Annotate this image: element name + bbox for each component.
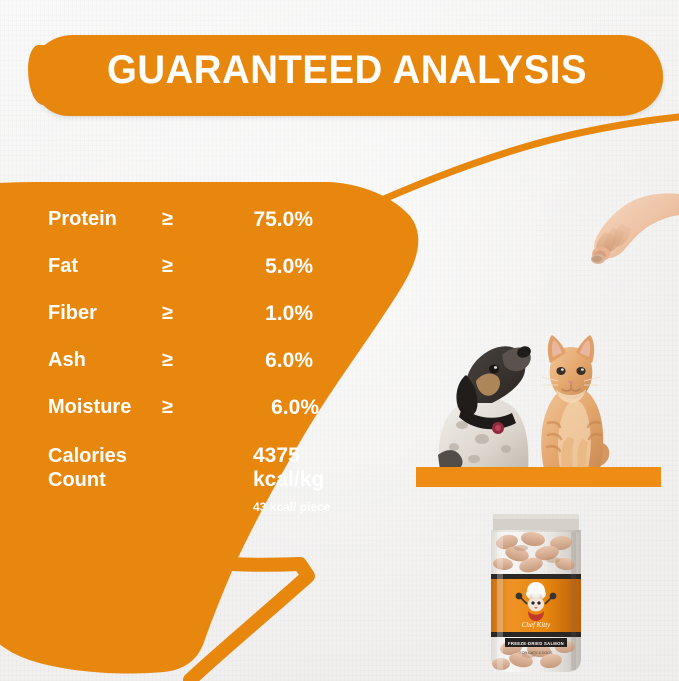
calories-label: Calories Count	[48, 444, 127, 492]
nutrient-value-moisture: 6.0%	[188, 384, 319, 431]
nutrient-value-fiber: 1.0%	[188, 290, 313, 337]
nutrient-operator-fiber: ≥	[162, 290, 173, 337]
nutrient-label-moisture: Moisture	[48, 384, 131, 431]
nutrient-operator-protein: ≥	[162, 196, 173, 243]
nutrient-operator-fat: ≥	[162, 243, 173, 290]
calories-value: 4375 kcal/kg	[253, 444, 324, 492]
table-row: Fiber ≥ 1.0%	[48, 290, 316, 337]
nutrient-operator-moisture: ≥	[162, 384, 173, 431]
calories-label-line2: Count	[48, 468, 127, 492]
calories-value-unit: kcal/kg	[253, 468, 324, 492]
table-row: Ash ≥ 6.0%	[48, 337, 316, 384]
calories-label-line1: Calories	[48, 444, 127, 468]
orange-swoosh-tail	[20, 520, 320, 681]
table-row: Fat ≥ 5.0%	[48, 243, 316, 290]
nutrient-operator-ash: ≥	[162, 337, 173, 384]
nutrient-label-ash: Ash	[48, 337, 86, 384]
infographic-canvas: Chef Kitty FREEZE-DRIED SALMON FOR CATS …	[0, 0, 679, 681]
nutrient-label-fat: Fat	[48, 243, 78, 290]
nutrient-label-fiber: Fiber	[48, 290, 97, 337]
nutrient-label-protein: Protein	[48, 196, 117, 243]
page-title: GUARANTEED ANALYSIS	[44, 48, 651, 93]
table-row: Moisture ≥ 6.0%	[48, 384, 316, 431]
guaranteed-analysis-table: Protein ≥ 75.0% Fat ≥ 5.0% Fiber ≥ 1.0% …	[48, 196, 316, 431]
nutrient-value-ash: 6.0%	[188, 337, 313, 384]
calories-per-piece-note: 43 kcal/ piece	[253, 500, 330, 514]
nutrient-value-protein: 75.0%	[188, 196, 313, 243]
nutrient-value-fat: 5.0%	[188, 243, 313, 290]
table-row: Protein ≥ 75.0%	[48, 196, 316, 243]
guaranteed-analysis-banner: GUARANTEED ANALYSIS	[31, 35, 663, 116]
calories-value-amount: 4375	[253, 444, 324, 468]
